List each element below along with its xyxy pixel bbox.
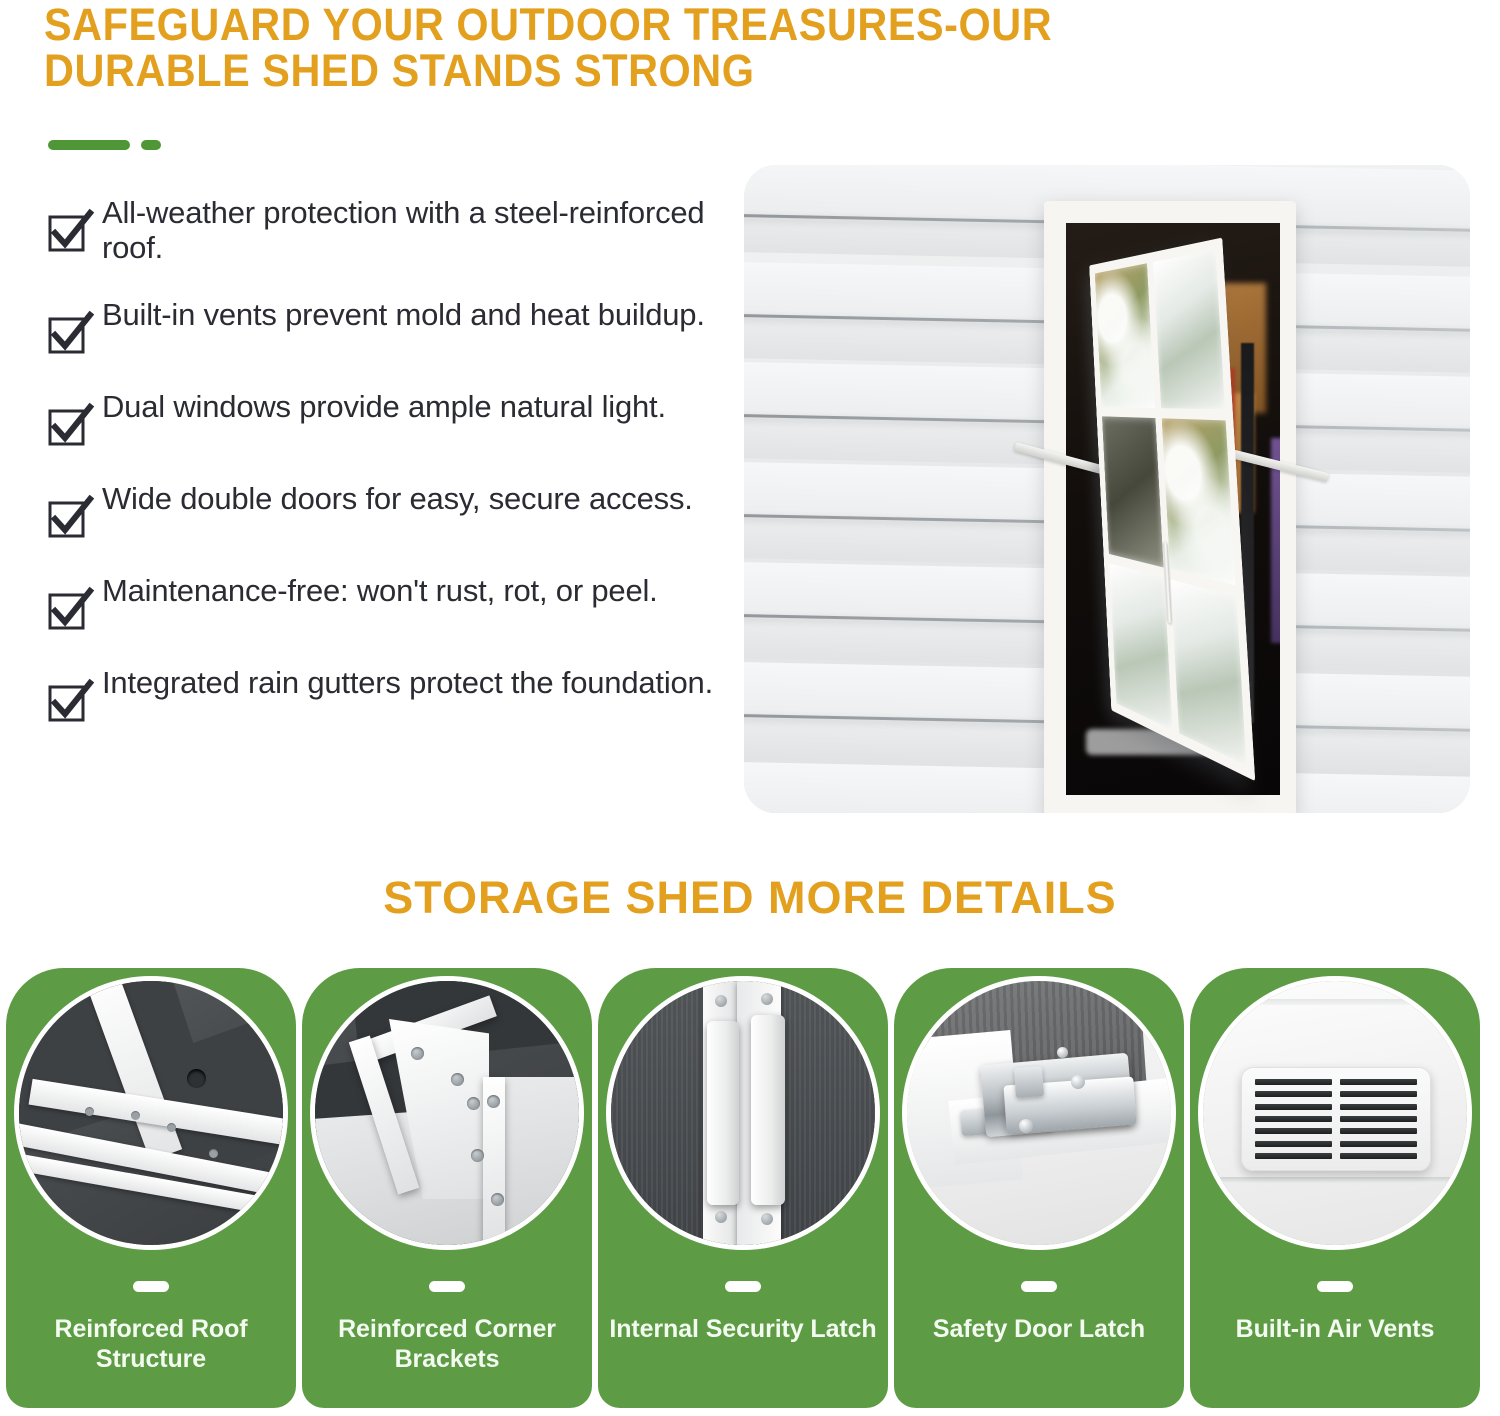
detail-card-reinforced-corner-brackets[interactable]: Reinforced Corner Brackets — [302, 968, 592, 1408]
page-headline: Safeguard Your Outdoor Treasures-Our Dur… — [44, 2, 1268, 95]
reinforced-corner-brackets-photo — [315, 981, 579, 1245]
list-item: Integrated rain gutters protect the foun… — [48, 666, 728, 725]
headline-line-2: Durable Shed Stands Strong — [44, 48, 1268, 94]
white-pill-icon — [725, 1281, 761, 1292]
safety-door-latch-photo — [907, 981, 1171, 1245]
section-title: Storage Shed More Details — [0, 872, 1500, 924]
built-in-air-vents-photo — [1203, 981, 1467, 1245]
reinforced-roof-structure-photo — [19, 981, 283, 1245]
detail-card-label: Reinforced Roof Structure — [17, 1314, 285, 1374]
checkbox-checked-icon — [48, 211, 92, 255]
internal-security-latch-photo — [611, 981, 875, 1245]
checkbox-checked-icon — [48, 313, 92, 357]
list-item-label: Integrated rain gutters protect the foun… — [92, 666, 713, 701]
green-bar-icon — [48, 140, 130, 150]
list-item-label: Wide double doors for easy, secure acces… — [92, 482, 693, 517]
list-item-label: Built-in vents prevent mold and heat bui… — [92, 298, 705, 333]
white-pill-icon — [429, 1281, 465, 1292]
detail-card-internal-security-latch[interactable]: Internal Security Latch — [598, 968, 888, 1408]
checkbox-checked-icon — [48, 681, 92, 725]
headline-line-1: Safeguard Your Outdoor Treasures-Our — [44, 0, 1052, 50]
list-item: Built-in vents prevent mold and heat bui… — [48, 298, 728, 357]
list-item: Maintenance-free: won't rust, rot, or pe… — [48, 574, 728, 633]
detail-card-reinforced-roof-structure[interactable]: Reinforced Roof Structure — [6, 968, 296, 1408]
detail-card-label: Built-in Air Vents — [1201, 1314, 1469, 1344]
white-pill-icon — [1317, 1281, 1353, 1292]
list-item: Dual windows provide ample natural light… — [48, 390, 728, 449]
vent-louvers — [1241, 1067, 1431, 1171]
headline-divider — [48, 140, 161, 150]
white-pill-icon — [133, 1281, 169, 1292]
checkbox-checked-icon — [48, 589, 92, 633]
detail-card-label: Internal Security Latch — [609, 1314, 877, 1344]
list-item-label: Maintenance-free: won't rust, rot, or pe… — [92, 574, 658, 609]
detail-card-row: Reinforced Roof Structure Reinf — [6, 968, 1494, 1408]
list-item-label: Dual windows provide ample natural light… — [92, 390, 666, 425]
checkbox-checked-icon — [48, 497, 92, 541]
list-item-label: All-weather protection with a steel-rein… — [92, 196, 728, 265]
feature-list: All-weather protection with a steel-rein… — [48, 196, 728, 758]
shed-window-photo — [744, 165, 1470, 813]
detail-card-safety-door-latch[interactable]: Safety Door Latch — [894, 968, 1184, 1408]
detail-card-label: Reinforced Corner Brackets — [313, 1314, 581, 1374]
product-feature-page: Safeguard Your Outdoor Treasures-Our Dur… — [0, 0, 1500, 1416]
white-pill-icon — [1021, 1281, 1057, 1292]
checkbox-checked-icon — [48, 405, 92, 449]
list-item: Wide double doors for easy, secure acces… — [48, 482, 728, 541]
detail-card-label: Safety Door Latch — [905, 1314, 1173, 1344]
list-item: All-weather protection with a steel-rein… — [48, 196, 728, 265]
green-dot-icon — [141, 140, 161, 150]
detail-card-built-in-air-vents[interactable]: Built-in Air Vents — [1190, 968, 1480, 1408]
